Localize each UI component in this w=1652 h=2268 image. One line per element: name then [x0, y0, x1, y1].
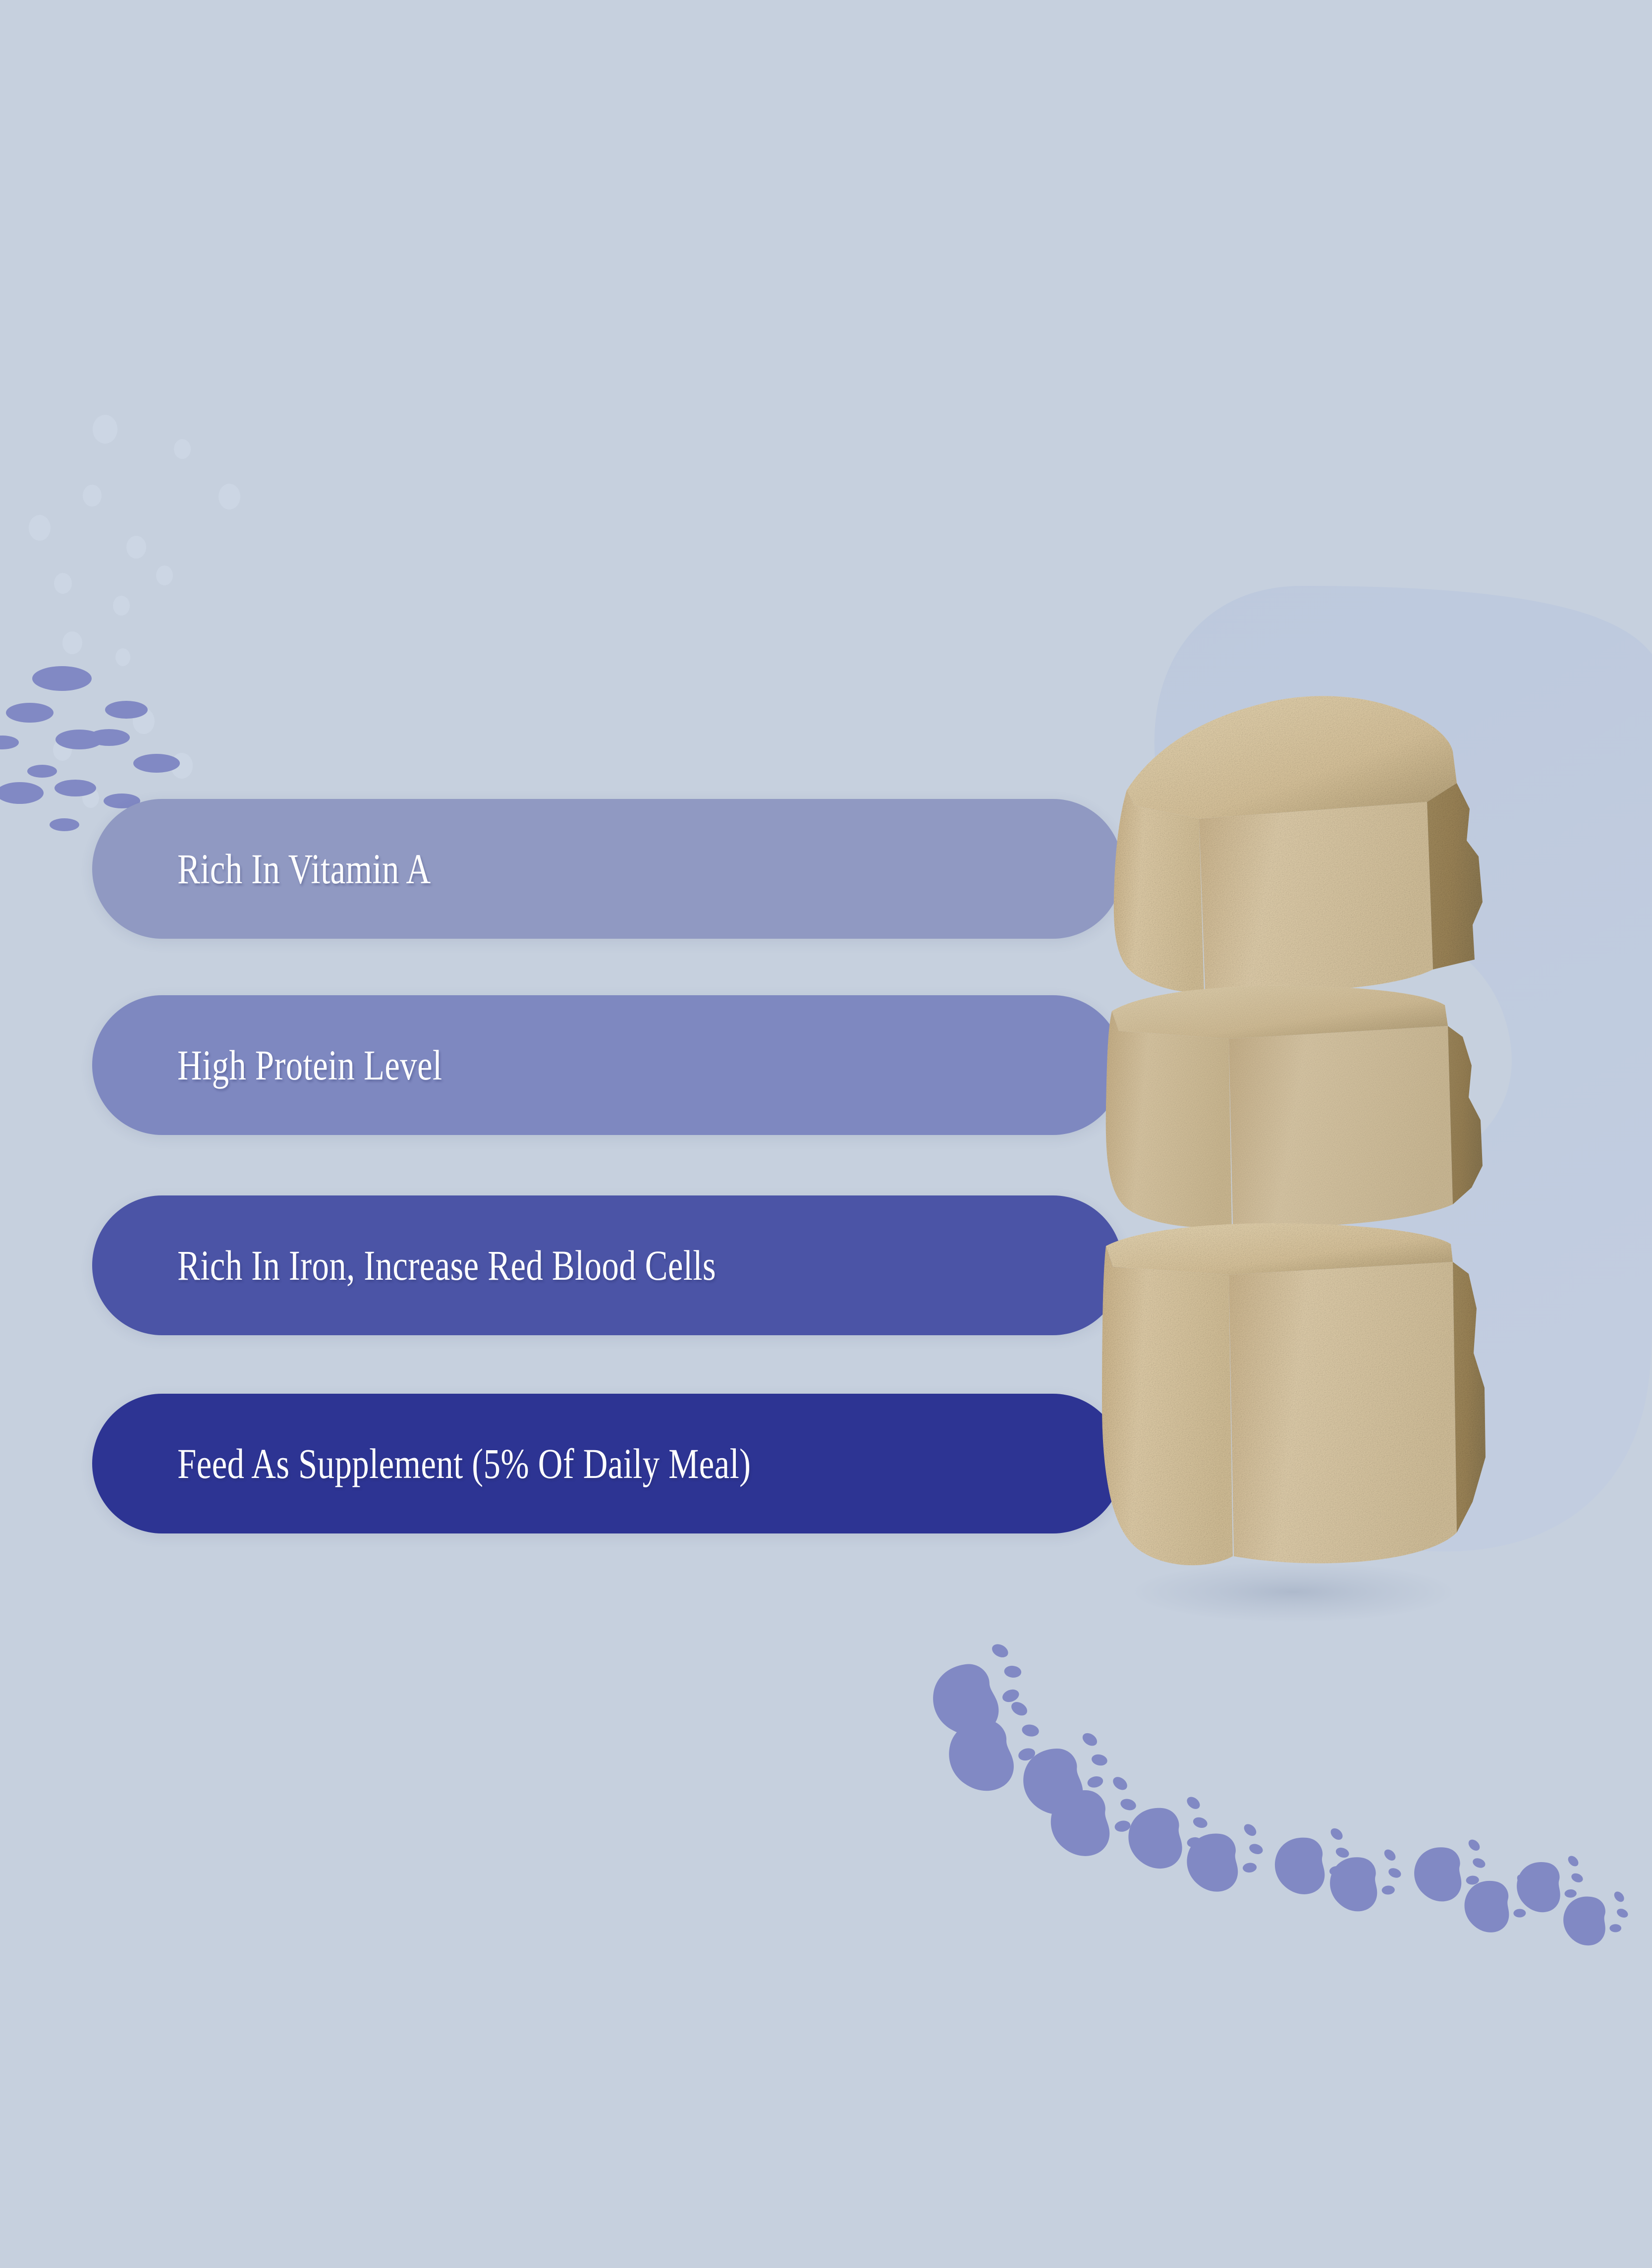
feature-bar-vitamin-a[interactable]: Rich In Vitamin A	[92, 799, 1123, 939]
product-ground-shadow	[1130, 1561, 1457, 1623]
poster-canvas: Rich In Vitamin A High Protein Level Ric…	[0, 0, 1652, 2268]
feature-bar-label: Rich In Vitamin A	[177, 844, 431, 894]
feature-bar-rich-in-iron[interactable]: Rich In Iron, Increase Red Blood Cells	[92, 1195, 1123, 1335]
feature-bar-label: Rich In Iron, Increase Red Blood Cells	[177, 1241, 716, 1290]
feature-bar-label: Feed As Supplement (5% Of Daily Meal)	[177, 1439, 751, 1488]
feature-bar-label: High Protein Level	[177, 1040, 442, 1090]
feature-bar-high-protein[interactable]: High Protein Level	[92, 995, 1123, 1135]
food-block-middle	[1106, 986, 1483, 1228]
food-block-bottom	[1102, 1223, 1486, 1565]
product-image-stacked-food-blocks	[1080, 684, 1526, 1650]
feature-bar-feed-as-supplement[interactable]: Feed As Supplement (5% Of Daily Meal)	[92, 1394, 1123, 1533]
food-block-top	[1114, 696, 1483, 992]
